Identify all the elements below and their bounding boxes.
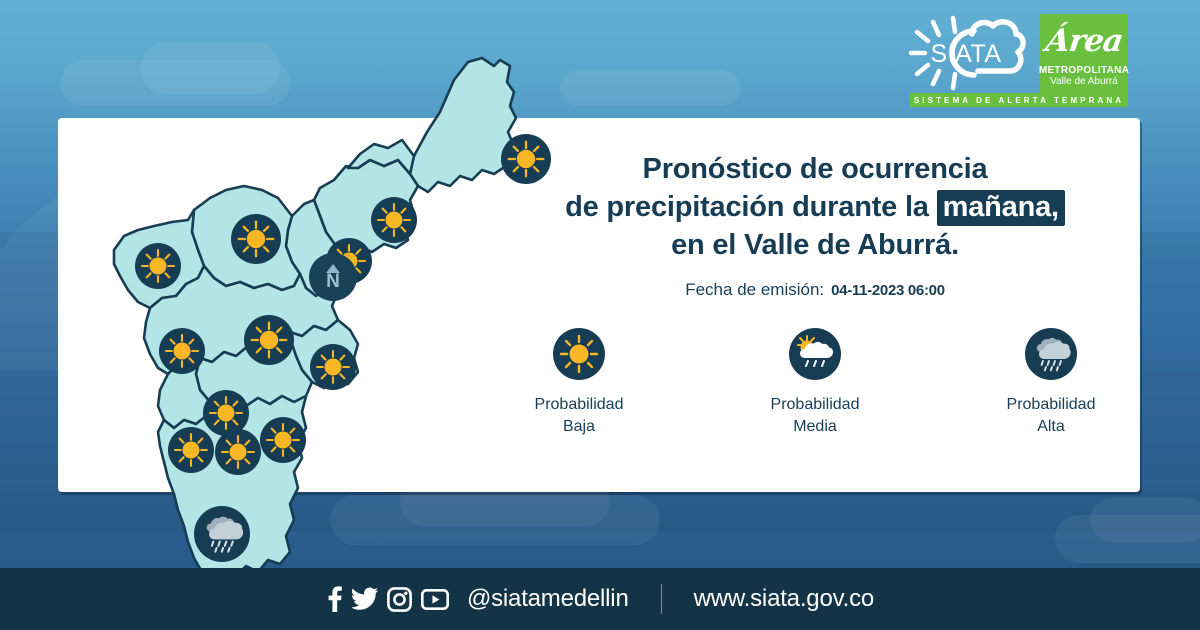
compass-label: N	[326, 274, 340, 290]
legend-item-media: Probabilidad Media	[745, 328, 885, 438]
sun-cloud-icon: SIATA	[900, 14, 1030, 92]
title-highlight-manana: mañana,	[937, 190, 1065, 226]
legend-label-alta: Probabilidad Alta	[981, 394, 1121, 438]
compass-north-icon: N	[309, 253, 357, 301]
legend-alta-line2: Alta	[981, 416, 1121, 438]
cloud-rain-icon	[1025, 328, 1077, 380]
background-cloud-7	[560, 70, 740, 106]
legend-label-baja: Probabilidad Baja	[509, 394, 649, 438]
forecast-content: Pronóstico de ocurrencia de precipitació…	[500, 150, 1130, 438]
issue-date-label: Fecha de emisión:	[685, 280, 824, 300]
footer-divider	[661, 584, 662, 614]
tagline-text: SISTEMA DE ALERTA TEMPRANA	[914, 96, 1124, 105]
legend-baja-line2: Baja	[509, 416, 649, 438]
instagram-icon[interactable]	[387, 587, 412, 612]
youtube-icon[interactable]	[421, 589, 449, 610]
issue-date: Fecha de emisión: 04-11-2023 06:00	[500, 280, 1130, 300]
title-line-1: Pronóstico de ocurrencia	[500, 150, 1130, 188]
social-icons	[326, 586, 449, 612]
title-line-3: en el Valle de Aburrá.	[500, 226, 1130, 264]
legend-item-alta: Probabilidad Alta	[981, 328, 1121, 438]
siata-logo: SIATA	[900, 14, 1030, 92]
legend-label-media: Probabilidad Media	[745, 394, 885, 438]
legend-item-baja: Probabilidad Baja	[509, 328, 649, 438]
tagline-strip: SISTEMA DE ALERTA TEMPRANA	[910, 93, 1128, 107]
facebook-icon[interactable]	[326, 586, 343, 612]
page-title: Pronóstico de ocurrencia de precipitació…	[500, 150, 1130, 264]
siata-logo-text: SIATA	[930, 40, 1001, 68]
background-cloud-6	[1090, 498, 1200, 542]
sun-cloud-rain-icon	[789, 328, 841, 380]
logo-bar: SIATA Área METROPOLITANA Valle de Aburrá	[900, 14, 1128, 102]
website-url[interactable]: www.siata.gov.co	[694, 585, 874, 613]
issue-date-value: 04-11-2023 06:00	[831, 282, 945, 299]
social-handle[interactable]: @siatamedellin	[467, 585, 629, 613]
background-cloud-2	[140, 42, 280, 94]
area-metropolitana-logo: Área METROPOLITANA Valle de Aburrá	[1040, 14, 1128, 102]
probability-legend: Probabilidad Baja	[500, 328, 1130, 438]
legend-media-line1: Probabilidad	[745, 394, 885, 416]
footer-bar: @siatamedellin www.siata.gov.co	[0, 568, 1200, 630]
sun-icon	[553, 328, 605, 380]
legend-baja-line1: Probabilidad	[509, 394, 649, 416]
twitter-icon[interactable]	[352, 587, 378, 611]
legend-alta-line1: Probabilidad	[981, 394, 1121, 416]
area-logo-script: Área	[1044, 26, 1125, 57]
area-logo-line2: Valle de Aburrá	[1050, 76, 1118, 87]
area-logo-line1: METROPOLITANA	[1039, 65, 1129, 76]
title-line-2-text: de precipitación durante la	[565, 191, 937, 223]
title-line-2: de precipitación durante la mañana,	[500, 188, 1130, 226]
legend-media-line2: Media	[745, 416, 885, 438]
